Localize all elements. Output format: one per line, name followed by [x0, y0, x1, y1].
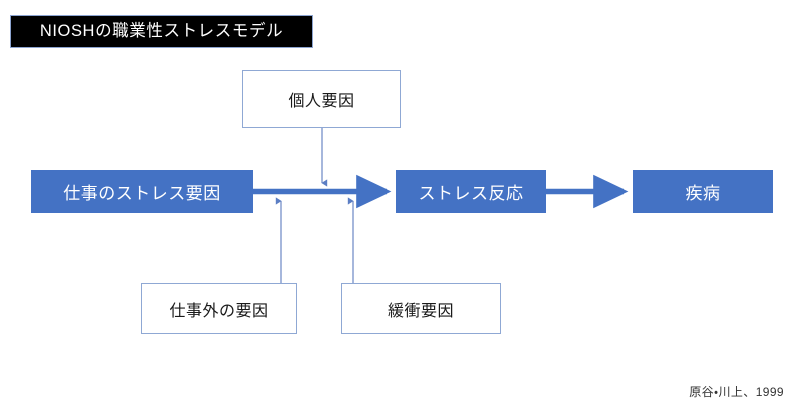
node-buffering-factors-label: 緩衝要因	[388, 297, 454, 321]
source-caption: 原谷・川上、1999	[689, 383, 784, 400]
node-nonwork-factors[interactable]: 仕事外の要因	[141, 283, 297, 334]
node-disease[interactable]: 疾病	[633, 170, 773, 213]
slide-canvas: NIOSHの職業性ストレスモデル	[0, 0, 800, 420]
node-stress-reaction-label: ストレス反応	[419, 179, 524, 204]
node-work-stressors[interactable]: 仕事のストレス要因	[31, 170, 253, 213]
node-stress-reaction[interactable]: ストレス反応	[396, 170, 546, 213]
node-personal-factors-label: 個人要因	[288, 87, 354, 111]
page-title: NIOSHの職業性ストレスモデル	[40, 23, 283, 40]
slide-title-banner: NIOSHの職業性ストレスモデル	[10, 15, 313, 48]
node-personal-factors[interactable]: 個人要因	[242, 70, 401, 128]
node-nonwork-factors-label: 仕事外の要因	[169, 297, 268, 321]
node-disease-label: 疾病	[686, 179, 721, 204]
node-buffering-factors[interactable]: 緩衝要因	[341, 283, 501, 334]
node-work-stressors-label: 仕事のストレス要因	[63, 179, 221, 204]
